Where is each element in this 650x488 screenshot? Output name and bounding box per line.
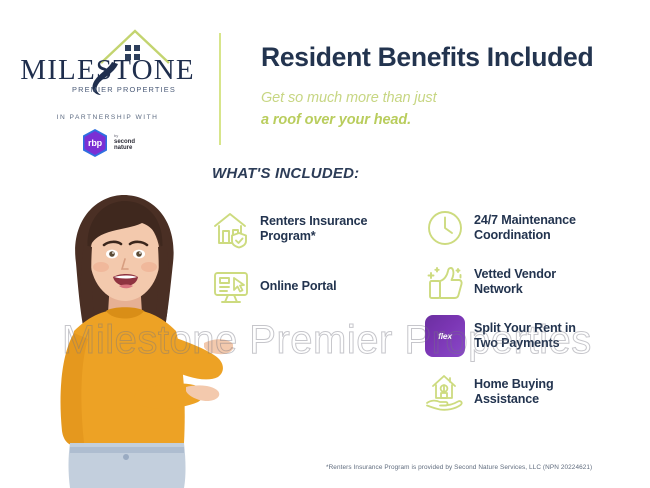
subtitle-line-2: a roof over your head. (261, 112, 411, 128)
second-nature-line2: nature (114, 145, 132, 151)
rbp-hexagon-icon: rbp (80, 128, 110, 158)
brand-block: MILESTONE PREMIER PROPERTIES IN PARTNERS… (10, 28, 205, 158)
milestone-logo: MILESTONE PREMIER PROPERTIES (20, 28, 195, 100)
monitor-cursor-icon (211, 266, 251, 306)
thumbs-up-sparkle-icon (425, 262, 465, 302)
woman-pointing-photo (18, 185, 233, 488)
second-nature-line1: second (114, 139, 135, 145)
house-shield-check-icon (211, 209, 251, 249)
vertical-divider (219, 33, 221, 145)
benefit-label: Online Portal (260, 279, 336, 294)
logo-tagline: PREMIER PROPERTIES (72, 85, 196, 94)
benefit-label: 24/7 Maintenance Coordination (474, 213, 576, 242)
benefit-home-buying-assistance[interactable]: Home Buying Assistance (425, 372, 554, 412)
partnership-label: IN PARTNERSHIP WITH (10, 114, 205, 121)
benefit-split-rent[interactable]: flex Split Your Rent in Two Payments (425, 315, 576, 357)
benefit-label: Split Your Rent in Two Payments (474, 321, 576, 350)
resident-benefits-flyer: MILESTONE PREMIER PROPERTIES IN PARTNERS… (0, 0, 650, 488)
subtitle-line-1: Get so much more than just (261, 90, 437, 106)
clock-icon (425, 208, 465, 248)
flex-app-icon: flex (425, 315, 465, 357)
rbp-label: rbp (80, 128, 110, 158)
benefit-maintenance-coordination[interactable]: 24/7 Maintenance Coordination (425, 208, 576, 248)
benefit-renters-insurance[interactable]: Renters Insurance Program* (211, 209, 367, 249)
second-nature-wordmark: by second nature (114, 134, 135, 151)
benefit-vetted-vendor-network[interactable]: Vetted Vendor Network (425, 262, 556, 302)
benefit-label: Vetted Vendor Network (474, 267, 556, 296)
footer-disclaimer: *Renters Insurance Program is provided b… (326, 464, 592, 471)
page-title: Resident Benefits Included (261, 42, 593, 73)
hand-holding-house-icon (425, 372, 465, 412)
rbp-second-nature-logo: rbp by second nature (10, 128, 205, 158)
benefit-online-portal[interactable]: Online Portal (211, 266, 336, 306)
benefit-label: Home Buying Assistance (474, 377, 554, 406)
benefit-label: Renters Insurance Program* (260, 214, 367, 243)
flex-app-label: flex (425, 315, 465, 357)
section-heading: WHAT'S INCLUDED: (212, 165, 359, 182)
